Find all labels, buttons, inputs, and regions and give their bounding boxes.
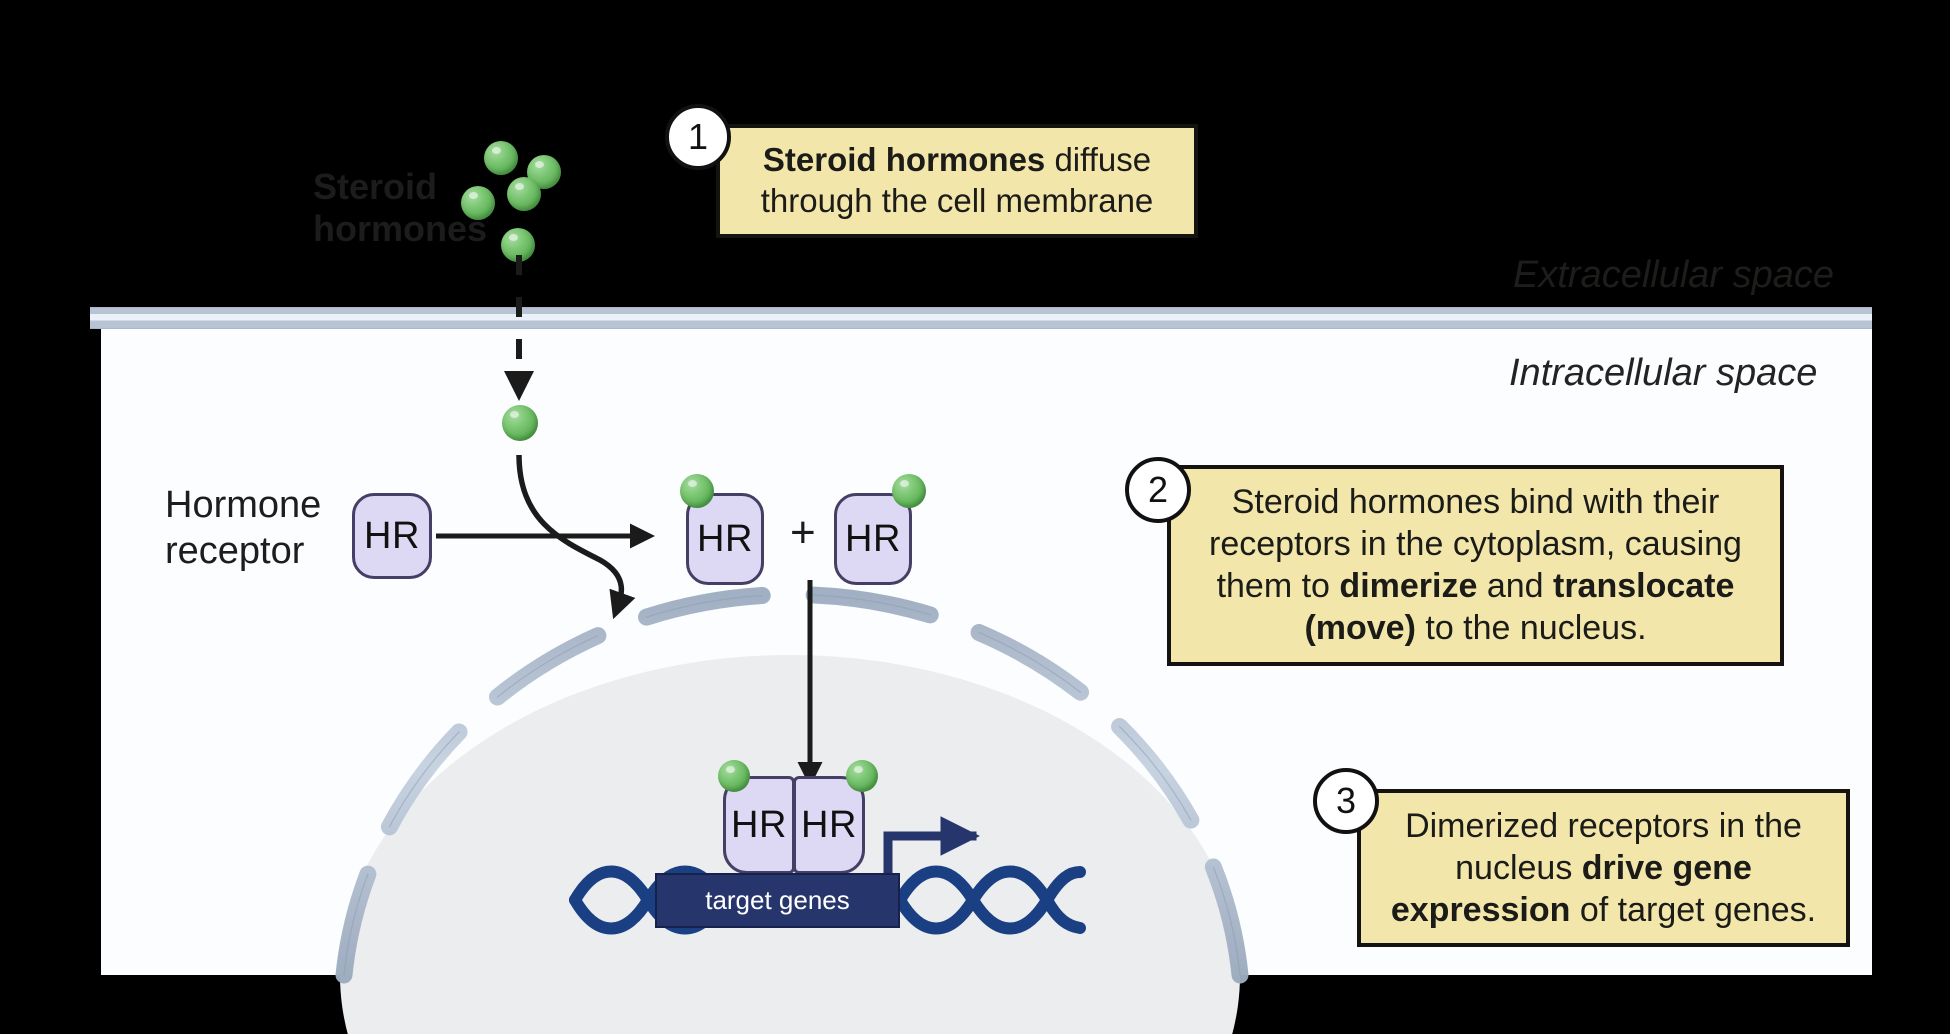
dimer-receptor-right-box: HR	[793, 776, 865, 874]
bound-hormone-left	[680, 474, 714, 508]
extracellular-space-label: Extracellular space	[1513, 254, 1834, 297]
dimer-hormone-left	[718, 760, 750, 792]
callout-box-2: Steroid hormones bind with their recepto…	[1167, 465, 1784, 666]
callout-badge-1: 1	[665, 104, 731, 170]
internalized-hormone	[502, 405, 538, 441]
callout-box-1: Steroid hormones diffuse through the cel…	[716, 124, 1198, 238]
hormone-receptor-label: Hormone receptor	[165, 482, 321, 575]
cell-membrane	[90, 307, 1872, 329]
callout-3-text-2: of target genes.	[1570, 891, 1816, 929]
callout-1-bold-lead: Steroid hormones	[763, 141, 1045, 178]
callout-2-bold-1: dimerize	[1339, 567, 1477, 605]
diagram-canvas: Extracellular space Steroid hormones Int…	[0, 0, 1950, 1034]
callout-2-text-4: to the nucleus.	[1416, 609, 1647, 647]
hormone-molecule	[461, 186, 495, 220]
free-receptor-box: HR	[352, 493, 432, 579]
plus-sign: +	[790, 508, 816, 558]
hormone-receptor-label-line2: receptor	[165, 528, 321, 574]
hormone-molecule	[484, 141, 518, 175]
intracellular-space-label: Intracellular space	[1509, 352, 1817, 395]
callout-badge-2: 2	[1125, 457, 1191, 523]
callout-2-bold-2: translocate	[1553, 567, 1734, 605]
target-genes-box: target genes	[655, 873, 900, 928]
callout-2-text-2: and	[1477, 567, 1553, 605]
hormone-molecule	[501, 228, 535, 262]
callout-badge-3: 3	[1313, 768, 1379, 834]
callout-box-3: Dimerized receptors in the nucleus drive…	[1357, 789, 1850, 947]
callout-2-bold-3: (move)	[1304, 609, 1415, 647]
steroid-hormones-label-line2: hormones	[313, 208, 487, 250]
bound-receptor-right-box: HR	[834, 493, 912, 585]
hormone-molecule	[507, 177, 541, 211]
bound-hormone-right	[892, 474, 926, 508]
hormone-receptor-label-line1: Hormone	[165, 482, 321, 528]
dimer-hormone-right	[846, 760, 878, 792]
